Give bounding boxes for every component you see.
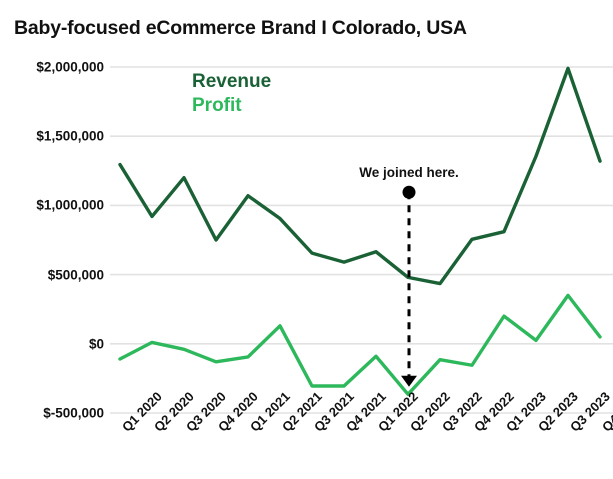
chart-container: Baby-focused eCommerce Brand I Colorado,… [0, 0, 613, 479]
y-axis-tick-label: $1,000,000 [36, 198, 104, 213]
annotation-marker [401, 186, 417, 387]
y-axis-tick-label: $0 [89, 336, 104, 351]
annotation-caption: We joined here. [359, 165, 459, 180]
series-lines [120, 68, 600, 394]
y-axis-tick-label: $2,000,000 [36, 60, 104, 75]
legend-item-revenue: Revenue [192, 71, 271, 93]
gridlines [110, 67, 613, 413]
series-line-profit [120, 295, 600, 394]
plot-area: $2,000,000$1,500,000$1,000,000$500,000$0… [0, 0, 613, 479]
y-axis-tick-label: $1,500,000 [36, 129, 104, 144]
y-axis-tick-label: $500,000 [48, 267, 104, 282]
legend-item-profit: Profit [192, 95, 242, 117]
annotation-dot-icon [403, 186, 416, 199]
y-axis-tick-label: $-500,000 [43, 406, 104, 421]
